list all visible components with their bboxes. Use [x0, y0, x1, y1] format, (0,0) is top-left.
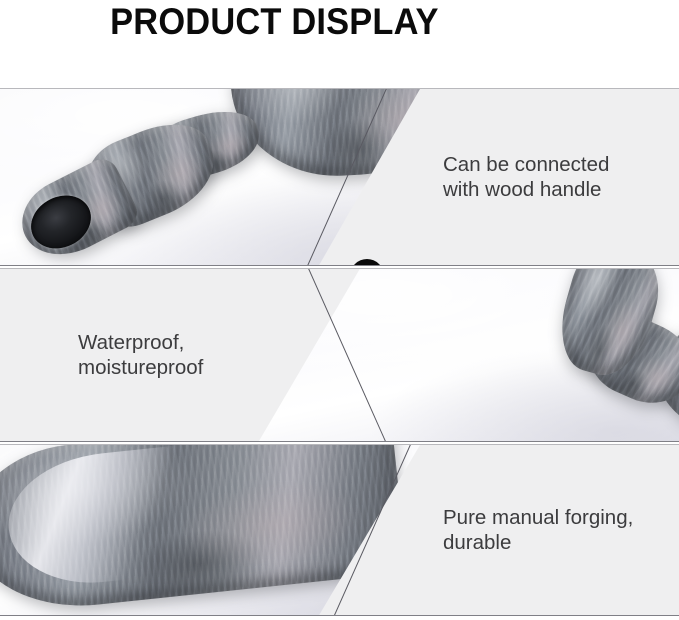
- caption-area-2: Waterproof, moistureproof: [0, 269, 290, 441]
- caption-text-1: Can be connected with wood handle: [443, 152, 609, 202]
- step-badge-1: 1: [350, 259, 384, 266]
- caption-text-2: Waterproof, moistureproof: [78, 330, 203, 380]
- product-photo-3: [0, 445, 420, 615]
- product-photo-2: [259, 269, 679, 441]
- title-bar: PRODUCT DISPLAY: [0, 0, 679, 88]
- feature-panel-2: Waterproof, moistureproof 2: [0, 268, 679, 442]
- page-title: PRODUCT DISPLAY: [24, 1, 655, 43]
- caption-area-1: Can be connected with wood handle: [399, 89, 679, 265]
- caption-area-3: Pure manual forging, durable: [399, 445, 679, 615]
- feature-panel-1: Can be connected with wood handle 1: [0, 88, 679, 266]
- caption-text-3: Pure manual forging, durable: [443, 505, 633, 555]
- feature-panel-3: Pure manual forging, durable 3: [0, 444, 679, 616]
- product-photo-1: [0, 89, 420, 265]
